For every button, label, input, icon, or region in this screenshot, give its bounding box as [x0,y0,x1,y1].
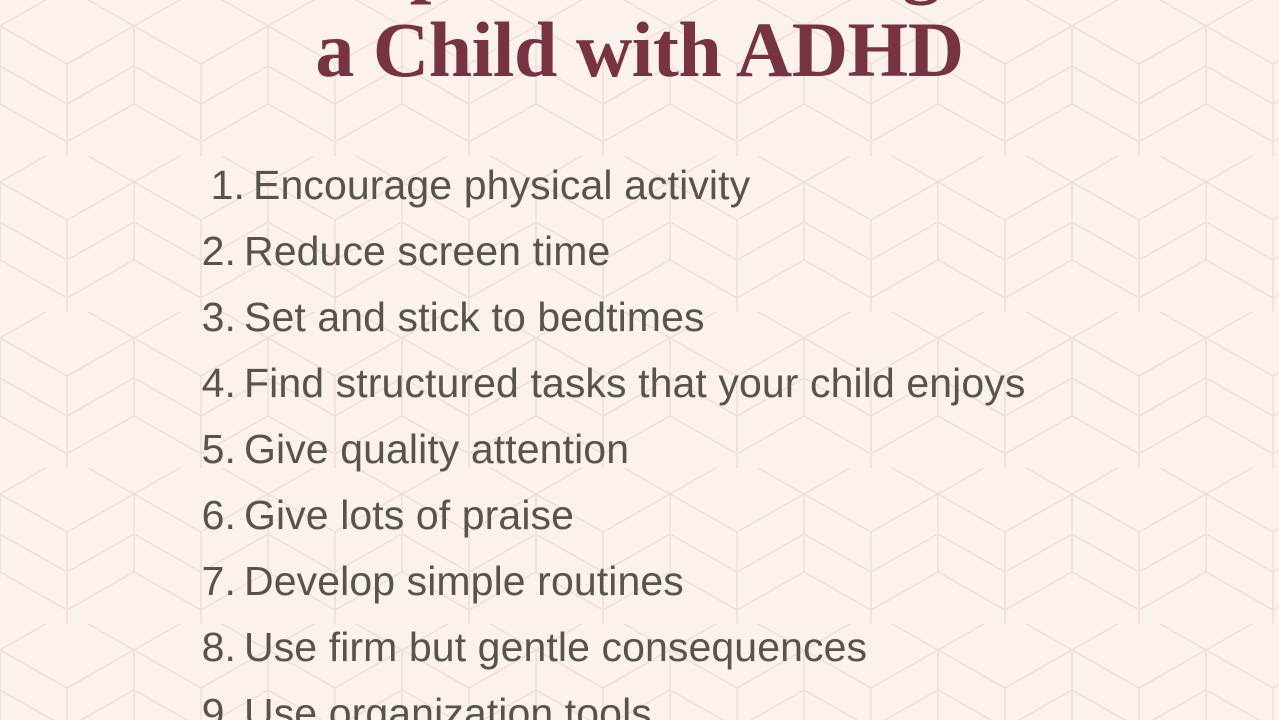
list-item: 7. Develop simple routines [0,548,1279,614]
list-item-number: 2. [188,218,236,284]
list-item-label: Reduce screen time [244,218,610,284]
list-item-label: Set and stick to bedtimes [244,284,705,350]
page-title: Tips for Parenting a Child with ADHD [0,0,1279,94]
list-item-number: 4. [188,350,236,416]
list-item-number: 1. [188,152,245,218]
list-item-number: 6. [188,482,236,548]
list-item: 3. Set and stick to bedtimes [0,284,1279,350]
list-item: 9. Use organization tools [0,680,1279,720]
list-item-label: Give quality attention [244,416,629,482]
list-item-label: Encourage physical activity [253,152,750,218]
list-item: 5. Give quality attention [0,416,1279,482]
list-item-label: Use firm but gentle consequences [244,614,867,680]
list-item: 4. Find structured tasks that your child… [0,350,1279,416]
list-item-label: Give lots of praise [244,482,574,548]
list-item-number: 3. [188,284,236,350]
list-item: 8. Use firm but gentle consequences [0,614,1279,680]
list-item-number: 9. [188,680,236,720]
list-item: 1. Encourage physical activity [0,152,1279,218]
tips-list: 1. Encourage physical activity 2. Reduce… [0,152,1279,720]
list-item-label: Develop simple routines [244,548,684,614]
list-item-number: 7. [188,548,236,614]
adhd-parenting-tips-poster: Tips for Parenting a Child with ADHD 1. … [0,0,1279,720]
list-item: 6. Give lots of praise [0,482,1279,548]
list-item-number: 8. [188,614,236,680]
page-title-line-2: a Child with ADHD [0,6,1279,94]
list-item-label: Find structured tasks that your child en… [244,350,1025,416]
list-item-number: 5. [188,416,236,482]
list-item: 2. Reduce screen time [0,218,1279,284]
list-item-label: Use organization tools [244,680,652,720]
